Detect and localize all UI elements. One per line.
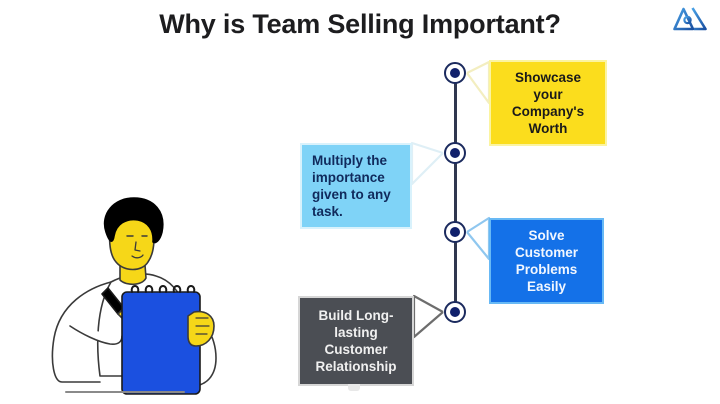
person-writing-on-notepad-illustration xyxy=(48,196,272,402)
timeline-node-1[interactable] xyxy=(444,62,466,84)
callout-solve[interactable]: Solve Customer Problems Easily xyxy=(489,218,604,304)
page-title: Why is Team Selling Important? xyxy=(0,8,720,40)
timeline-node-3[interactable] xyxy=(444,221,466,243)
mountain-logo-icon xyxy=(672,4,708,34)
timeline-node-4[interactable] xyxy=(444,301,466,323)
callout-build-bottom-tab xyxy=(348,384,360,391)
timeline-node-2[interactable] xyxy=(444,142,466,164)
callout-build[interactable]: Build Long-lasting Customer Relationship xyxy=(298,296,414,386)
slide-canvas: Why is Team Selling Important? xyxy=(0,0,720,404)
timeline-axis xyxy=(454,72,457,314)
callout-multiply[interactable]: Multiply the importance given to any tas… xyxy=(300,143,412,229)
callout-showcase[interactable]: Showcase your Company's Worth xyxy=(489,60,607,146)
